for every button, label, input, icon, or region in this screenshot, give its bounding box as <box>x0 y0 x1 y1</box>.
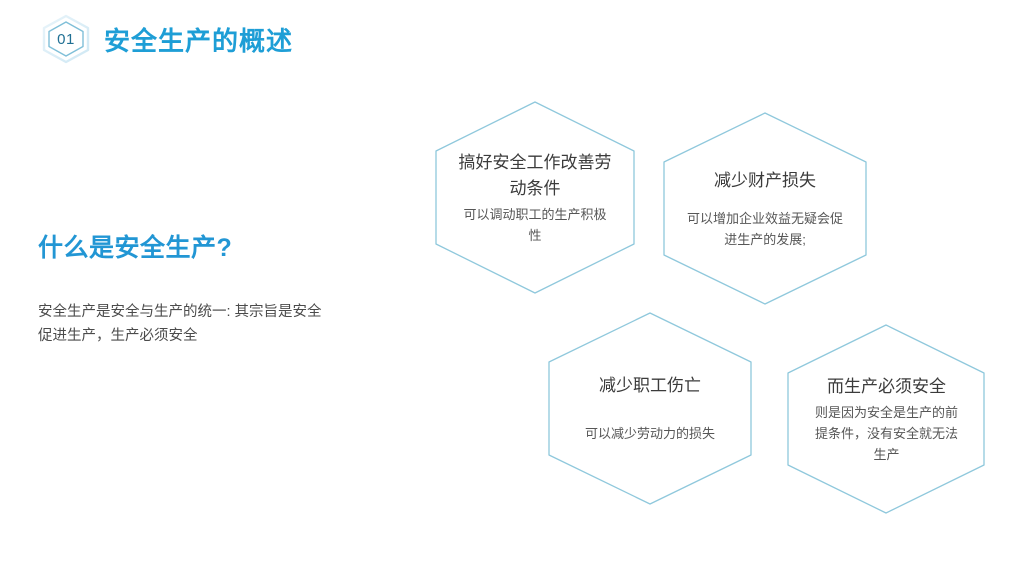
hex-card-description: 可以调动职工的生产积极性 <box>458 204 612 246</box>
left-heading: 什么是安全生产? <box>38 228 338 264</box>
hex-card-reduce-casualties[interactable]: 减少职工伤亡 可以减少劳动力的损失 <box>545 310 755 507</box>
hex-card-improve-work-conditions[interactable]: 搞好安全工作改善劳动条件 可以调动职工的生产积极性 <box>432 99 638 296</box>
hex-card-title: 减少财产损失 <box>714 168 816 194</box>
page-title: 安全生产的概述 <box>104 21 293 58</box>
hex-card-title: 搞好安全工作改善劳动条件 <box>458 150 612 202</box>
hex-card-description: 可以增加企业效益无疑会促进生产的发展; <box>686 208 844 250</box>
hex-card-description: 则是因为安全是生产的前提条件，没有安全就无法生产 <box>811 402 962 465</box>
hex-card-reduce-property-loss[interactable]: 减少财产损失 可以增加企业效益无疑会促进生产的发展; <box>660 110 870 307</box>
hex-card-title: 减少职工伤亡 <box>599 373 701 399</box>
hex-card-production-must-be-safe[interactable]: 而生产必须安全 则是因为安全是生产的前提条件，没有安全就无法生产 <box>785 322 988 517</box>
hex-card-content: 减少职工伤亡 可以减少劳动力的损失 <box>545 310 755 507</box>
section-number-badge: 01 <box>38 14 94 64</box>
hex-card-title: 而生产必须安全 <box>827 374 946 400</box>
left-body-text: 安全生产是安全与生产的统一: 其宗旨是安全促进生产，生产必须安全 <box>38 300 328 348</box>
hex-card-content: 而生产必须安全 则是因为安全是生产的前提条件，没有安全就无法生产 <box>785 322 988 517</box>
hex-card-description: 可以减少劳动力的损失 <box>585 423 715 444</box>
slide-header: 01 安全生产的概述 <box>38 14 293 64</box>
section-number-label: 01 <box>38 14 94 64</box>
slide-root: { "slide": { "background_color": "#fffff… <box>0 0 1024 576</box>
hex-card-content: 减少财产损失 可以增加企业效益无疑会促进生产的发展; <box>660 110 870 307</box>
left-text-block: 什么是安全生产? 安全生产是安全与生产的统一: 其宗旨是安全促进生产，生产必须安… <box>38 228 338 348</box>
hex-card-content: 搞好安全工作改善劳动条件 可以调动职工的生产积极性 <box>432 99 638 296</box>
